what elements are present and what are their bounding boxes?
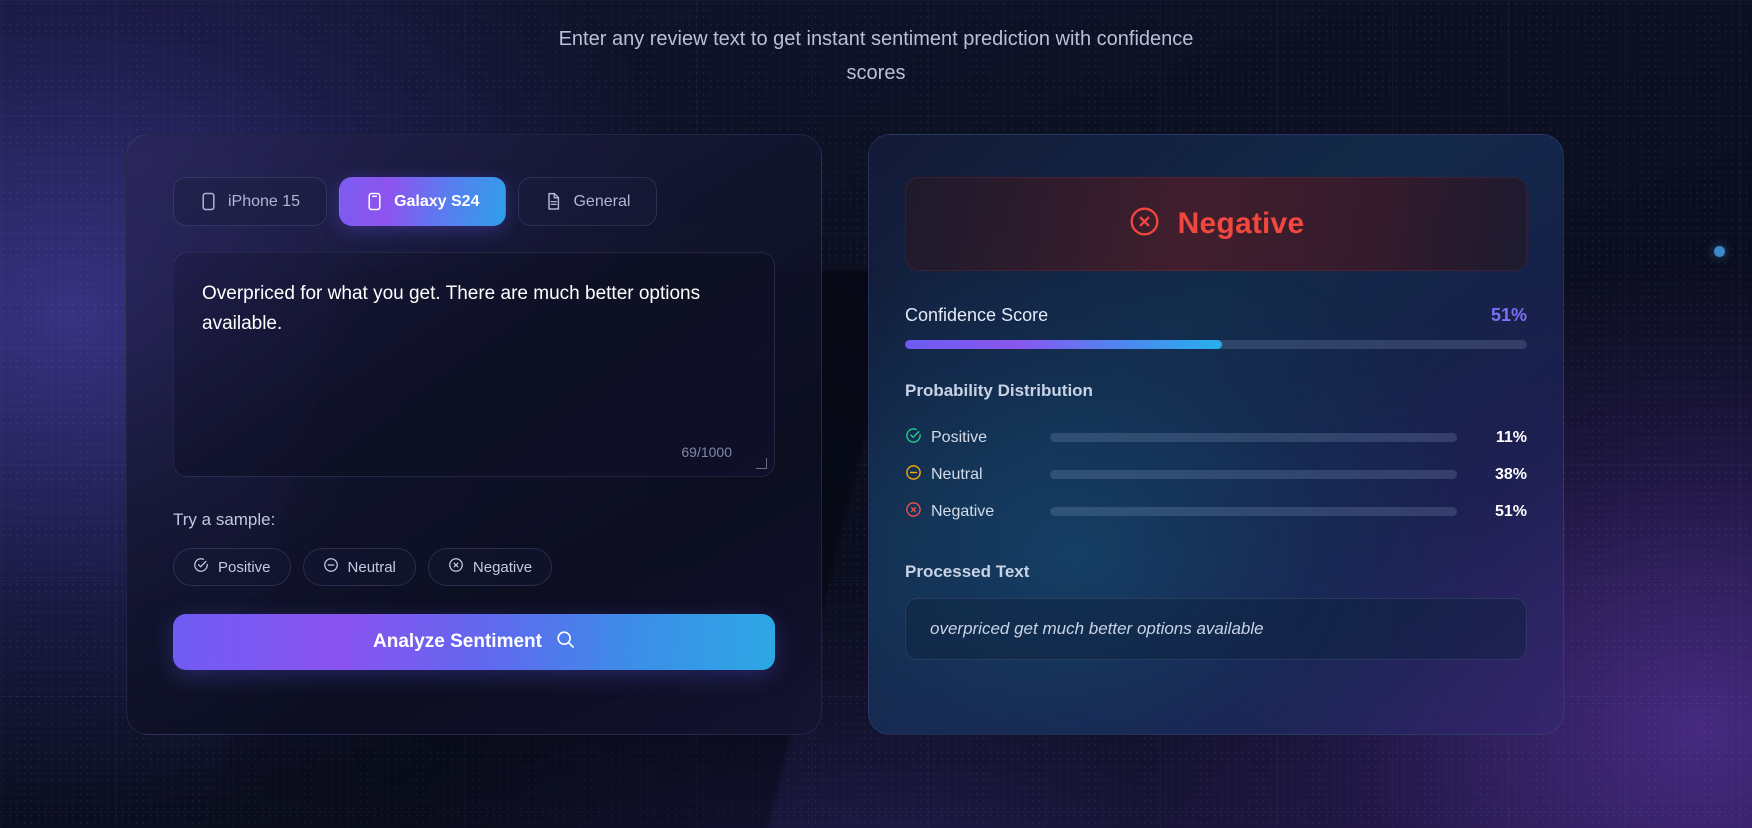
distribution-label-positive: Positive — [905, 427, 1050, 449]
distribution-name: Neutral — [931, 466, 983, 484]
search-icon — [556, 630, 575, 655]
page-header: Enter any review text to get instant sen… — [0, 0, 1752, 90]
document-icon — [545, 192, 562, 211]
sample-label: Try a sample: — [173, 510, 775, 530]
sample-chips: Positive Neutral — [173, 548, 775, 586]
verdict-label: Negative — [1178, 207, 1305, 241]
input-panel: iPhone 15 Galaxy S24 — [126, 134, 822, 735]
phone-icon — [366, 192, 383, 211]
sample-chip-negative[interactable]: Negative — [428, 548, 552, 586]
chip-label: Neutral — [348, 559, 396, 576]
minus-circle-icon — [323, 557, 339, 577]
review-textarea-value: Overpriced for what you get. There are m… — [202, 279, 722, 339]
x-circle-icon — [905, 501, 922, 523]
distribution-track-negative — [1050, 507, 1457, 516]
processed-text-title: Processed Text — [905, 562, 1527, 582]
distribution-track-positive — [1050, 433, 1457, 442]
product-tabs: iPhone 15 Galaxy S24 — [173, 177, 775, 226]
distribution-name: Negative — [931, 503, 994, 521]
confidence-score-track — [905, 340, 1527, 349]
distribution-row-neutral: Neutral 38% — [905, 456, 1527, 493]
character-counter: 69/1000 — [681, 444, 732, 460]
check-circle-icon — [905, 427, 922, 449]
chip-label: Negative — [473, 559, 532, 576]
distribution-track-neutral — [1050, 470, 1457, 479]
sample-chip-positive[interactable]: Positive — [173, 548, 291, 586]
main-stage: iPhone 15 Galaxy S24 — [0, 90, 1752, 735]
distribution-value-positive: 11% — [1479, 429, 1527, 447]
confidence-score-row: Confidence Score 51% — [905, 305, 1527, 326]
phone-icon — [200, 192, 217, 211]
check-circle-icon — [193, 557, 209, 577]
distribution-row-positive: Positive 11% — [905, 419, 1527, 456]
confidence-score-value: 51% — [1491, 305, 1527, 326]
tab-label: General — [573, 193, 630, 211]
confidence-score-title: Confidence Score — [905, 305, 1048, 326]
probability-distribution-list: Positive 11% Neutral — [905, 419, 1527, 530]
result-panel: Negative Confidence Score 51% Probabilit… — [868, 134, 1564, 735]
distribution-value-neutral: 38% — [1479, 466, 1527, 484]
x-circle-icon — [1128, 205, 1161, 243]
page-subtitle: Enter any review text to get instant sen… — [546, 22, 1206, 90]
distribution-name: Positive — [931, 429, 987, 447]
confidence-score-fill — [905, 340, 1222, 349]
processed-text-box: overpriced get much better options avail… — [905, 598, 1527, 660]
distribution-value-negative: 51% — [1479, 503, 1527, 521]
analyze-sentiment-button[interactable]: Analyze Sentiment — [173, 614, 775, 670]
tab-iphone-15[interactable]: iPhone 15 — [173, 177, 327, 226]
review-textarea[interactable]: Overpriced for what you get. There are m… — [173, 252, 775, 477]
tab-galaxy-s24[interactable]: Galaxy S24 — [339, 177, 506, 226]
minus-circle-icon — [905, 464, 922, 486]
textarea-resize-handle[interactable] — [755, 457, 769, 471]
distribution-label-negative: Negative — [905, 501, 1050, 523]
analyze-button-label: Analyze Sentiment — [373, 631, 542, 653]
x-circle-icon — [448, 557, 464, 577]
sentiment-verdict-banner: Negative — [905, 177, 1527, 271]
probability-distribution-title: Probability Distribution — [905, 381, 1527, 401]
tab-label: Galaxy S24 — [394, 193, 479, 211]
distribution-label-neutral: Neutral — [905, 464, 1050, 486]
tab-general[interactable]: General — [518, 177, 657, 226]
processed-text-value: overpriced get much better options avail… — [930, 619, 1264, 639]
sample-chip-neutral[interactable]: Neutral — [303, 548, 416, 586]
tab-label: iPhone 15 — [228, 193, 300, 211]
chip-label: Positive — [218, 559, 271, 576]
distribution-row-negative: Negative 51% — [905, 493, 1527, 530]
